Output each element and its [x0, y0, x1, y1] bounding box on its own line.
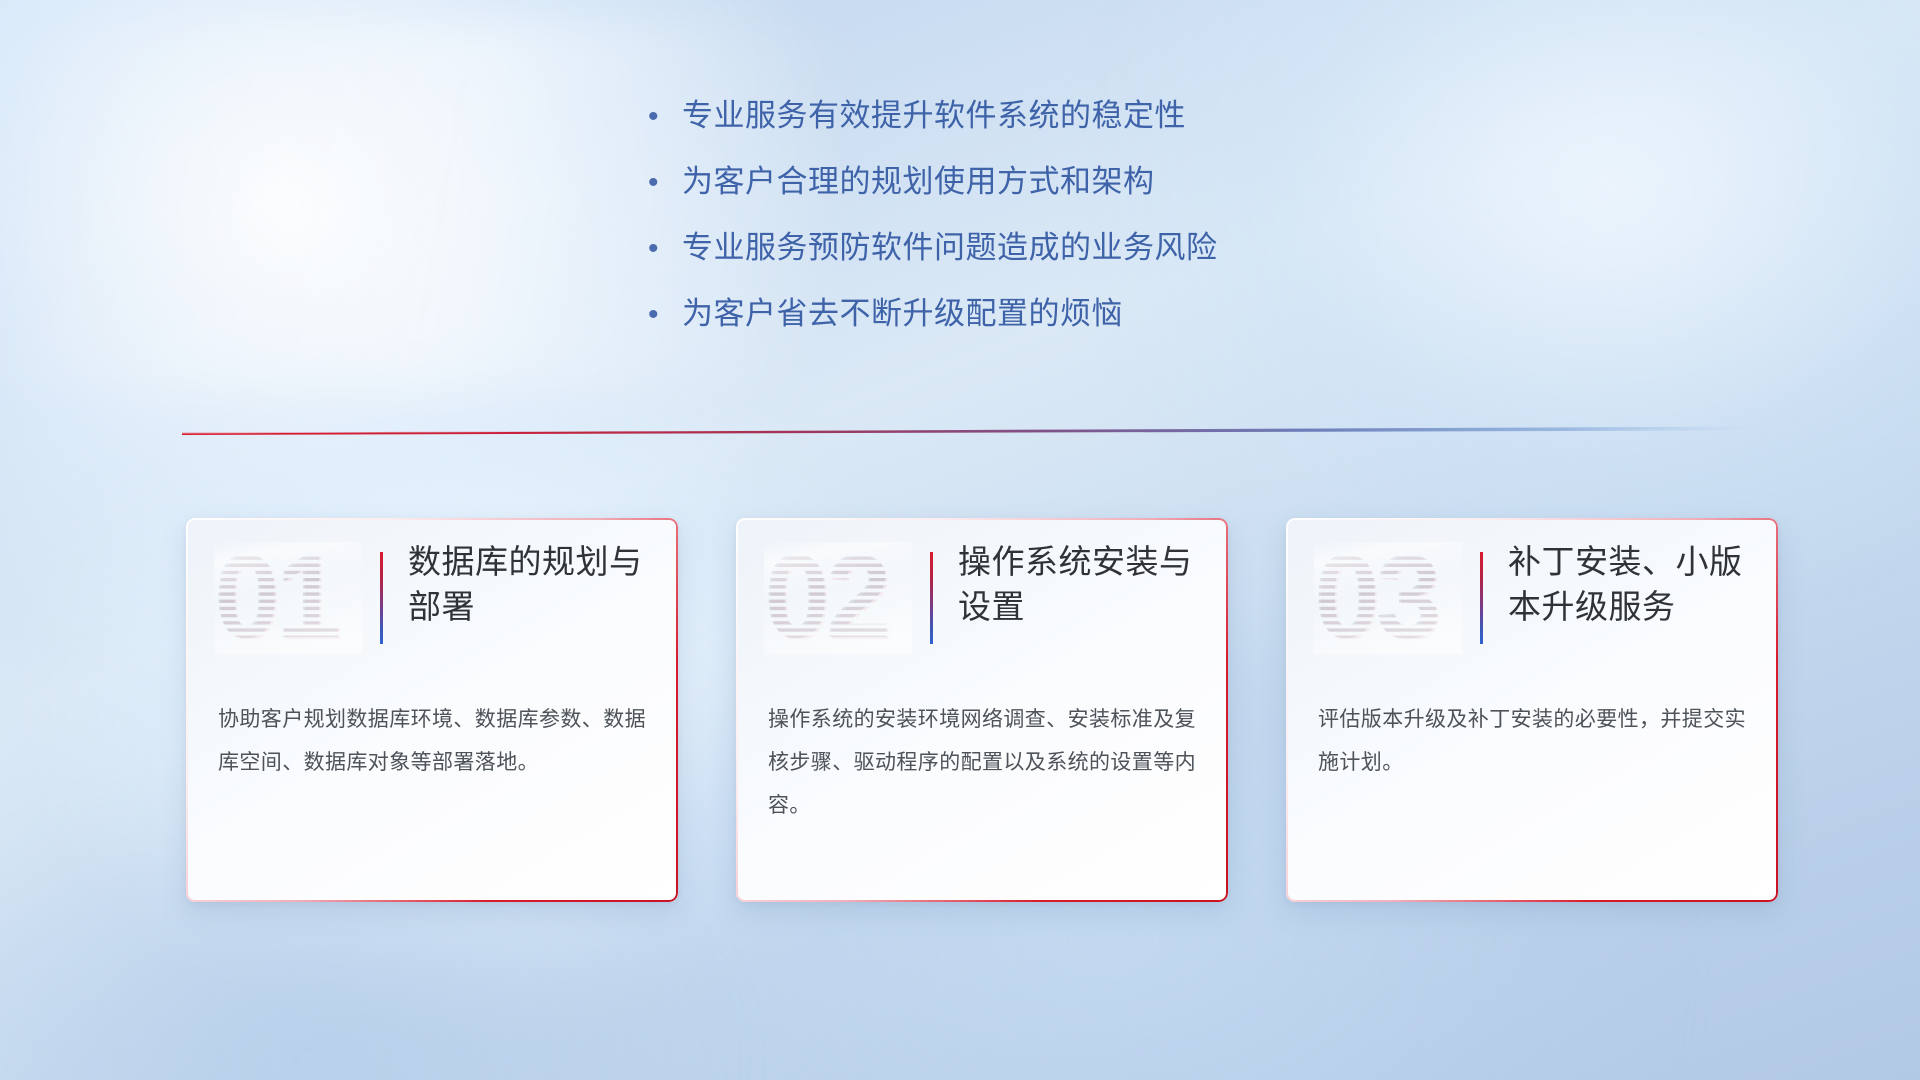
bullet-text: 专业服务预防软件问题造成的业务风险: [682, 232, 1218, 263]
divider-shape-icon: [182, 424, 1754, 435]
list-item: • 为客户省去不断升级配置的烦恼: [648, 298, 1218, 364]
section-divider: [182, 424, 1754, 435]
card-description: 协助客户规划数据库环境、数据库参数、数据库空间、数据库对象等部署落地。: [218, 698, 650, 784]
service-card-01[interactable]: 01 01 数据库的规划与部署 协助客户规划数据库环境、数据库参数、数据库空间、…: [186, 518, 678, 902]
bullet-text: 为客户省去不断升级配置的烦恼: [682, 298, 1123, 329]
card-title: 数据库的规划与部署: [408, 540, 662, 630]
hatched-number-glyph: 03 03: [1314, 542, 1462, 654]
card-accent-bar: [380, 552, 383, 644]
hatched-number-glyph: 01 01: [214, 542, 362, 654]
service-card-03[interactable]: 03 03 补丁安装、小版本升级服务 评估版本升级及补丁安装的必要性，并提交实施…: [1286, 518, 1778, 902]
list-item: • 为客户合理的规划使用方式和架构: [648, 166, 1218, 232]
card-number-03-icon: 03 03: [1314, 542, 1462, 654]
background-glow-top-right: [1114, 0, 1920, 583]
card-number-02-icon: 02 02: [764, 542, 912, 654]
bullet-dot-icon: •: [648, 300, 682, 330]
card-accent-bar: [1480, 552, 1483, 644]
card-title: 补丁安装、小版本升级服务: [1508, 540, 1762, 630]
card-accent-bar: [930, 552, 933, 644]
hatched-number-glyph: 02 02: [764, 542, 912, 654]
service-card-group: 01 01 数据库的规划与部署 协助客户规划数据库环境、数据库参数、数据库空间、…: [0, 518, 1920, 918]
bullet-dot-icon: •: [648, 168, 682, 198]
bullet-dot-icon: •: [648, 102, 682, 132]
list-item: • 专业服务有效提升软件系统的稳定性: [648, 100, 1218, 166]
bullet-dot-icon: •: [648, 234, 682, 264]
bullet-text: 专业服务有效提升软件系统的稳定性: [682, 100, 1186, 131]
card-description: 操作系统的安装环境网络调查、安装标准及复核步骤、驱动程序的配置以及系统的设置等内…: [768, 698, 1200, 827]
benefit-bullet-list: • 专业服务有效提升软件系统的稳定性 • 为客户合理的规划使用方式和架构 • 专…: [648, 100, 1218, 364]
card-title: 操作系统安装与设置: [958, 540, 1212, 630]
list-item: • 专业服务预防软件问题造成的业务风险: [648, 232, 1218, 298]
card-description: 评估版本升级及补丁安装的必要性，并提交实施计划。: [1318, 698, 1750, 784]
card-number-01-icon: 01 01: [214, 542, 362, 654]
service-card-02[interactable]: 02 02 操作系统安装与设置 操作系统的安装环境网络调查、安装标准及复核步骤、…: [736, 518, 1228, 902]
bullet-text: 为客户合理的规划使用方式和架构: [682, 166, 1155, 197]
